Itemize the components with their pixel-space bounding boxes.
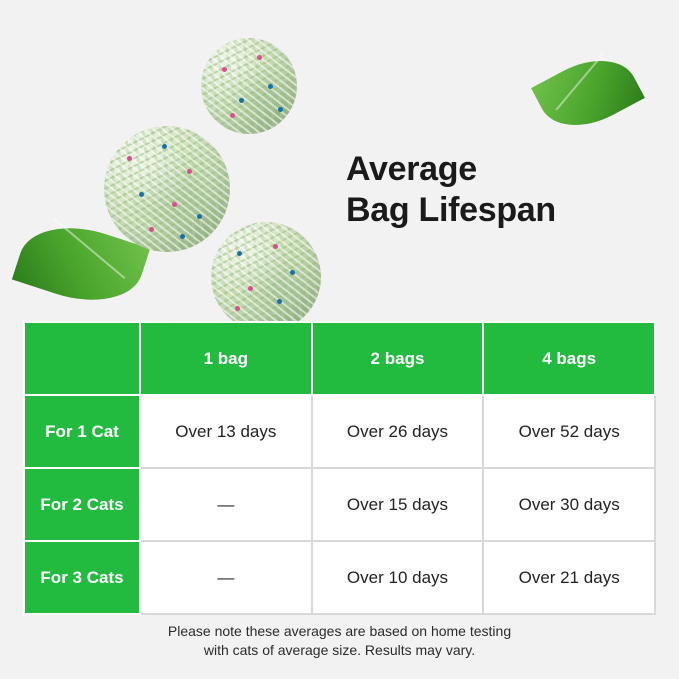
table-row: For 3 Cats — Over 10 days Over 21 days: [24, 541, 655, 614]
footnote-line2: with cats of average size. Results may v…: [0, 641, 679, 660]
column-header-1-bag: 1 bag: [140, 322, 312, 395]
page-title: Average Bag Lifespan: [346, 149, 646, 231]
cell-1cat-4bags: Over 52 days: [483, 395, 655, 468]
lifespan-table-wrapper: 1 bag 2 bags 4 bags For 1 Cat Over 13 da…: [23, 321, 656, 615]
table-row: For 2 Cats — Over 15 days Over 30 days: [24, 468, 655, 541]
row-header-for-2-cats: For 2 Cats: [24, 468, 140, 541]
cell-3cats-2bags: Over 10 days: [312, 541, 484, 614]
column-header-2-bags: 2 bags: [312, 322, 484, 395]
litter-clump-bottom: [211, 222, 321, 332]
footnote: Please note these averages are based on …: [0, 622, 679, 660]
cell-1cat-2bags: Over 26 days: [312, 395, 484, 468]
cell-2cats-4bags: Over 30 days: [483, 468, 655, 541]
footnote-line1: Please note these averages are based on …: [0, 622, 679, 641]
table-header-row: 1 bag 2 bags 4 bags: [24, 322, 655, 395]
cell-2cats-2bags: Over 15 days: [312, 468, 484, 541]
litter-clump-large: [104, 126, 230, 252]
litter-clump-top: [201, 38, 297, 134]
cell-3cats-4bags: Over 21 days: [483, 541, 655, 614]
row-header-for-3-cats: For 3 Cats: [24, 541, 140, 614]
page-title-line2: Bag Lifespan: [346, 190, 646, 231]
cell-1cat-1bag: Over 13 days: [140, 395, 312, 468]
poster-canvas: Average Bag Lifespan 1 bag 2 bags 4 bags…: [0, 0, 679, 679]
table-row: For 1 Cat Over 13 days Over 26 days Over…: [24, 395, 655, 468]
lifespan-table: 1 bag 2 bags 4 bags For 1 Cat Over 13 da…: [23, 321, 656, 615]
cell-3cats-1bag: —: [140, 541, 312, 614]
column-header-4-bags: 4 bags: [483, 322, 655, 395]
row-header-for-1-cat: For 1 Cat: [24, 395, 140, 468]
cell-2cats-1bag: —: [140, 468, 312, 541]
page-title-line1: Average: [346, 150, 477, 188]
table-corner-cell: [24, 322, 140, 395]
leaf-icon-right: [531, 43, 645, 143]
